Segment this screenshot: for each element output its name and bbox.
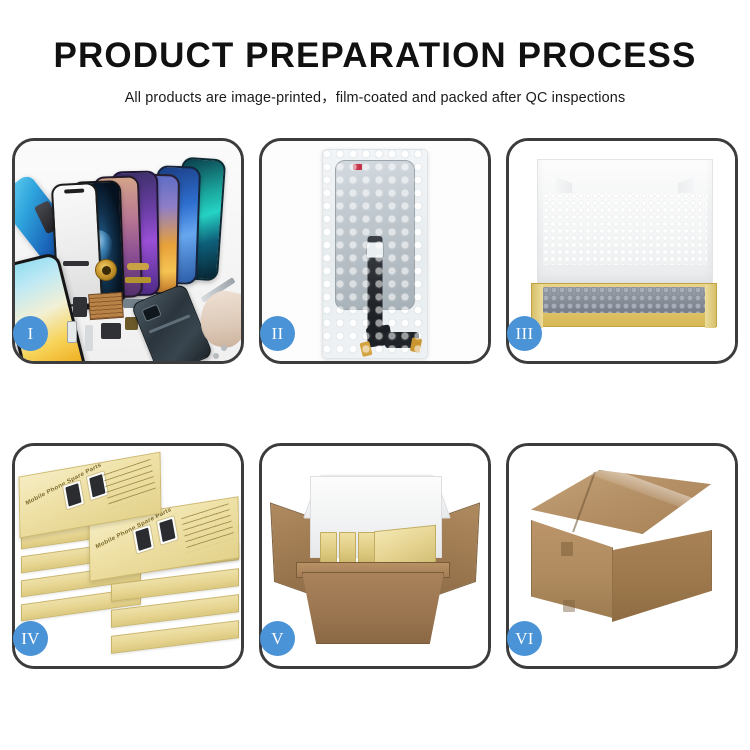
foam-sheet [543,193,707,265]
bubble-wrap-bag [322,149,428,359]
carton-tab-lower [563,600,575,612]
box-screen-print-a [132,524,155,555]
product-preparation-infographic: PRODUCT PREPARATION PROCESS All products… [0,0,750,750]
connector-part-a [101,323,121,339]
step-2-image [262,141,488,361]
driver-ic-chip [366,242,384,258]
step-5-image [262,446,488,666]
step-3-image [509,141,735,361]
carton-body [302,572,444,644]
shipping-carton-right-face [612,530,712,622]
speaker-part [63,261,89,266]
step-badge-4: IV [13,621,48,656]
page-title: PRODUCT PREPARATION PROCESS [0,38,750,75]
header: PRODUCT PREPARATION PROCESS All products… [0,0,750,107]
step-1-image [15,141,241,361]
camera-module-part [95,259,117,281]
process-step-4: Mobile Phone Spare Parts Mobile Phone Sp… [12,443,244,669]
box-screen-print-b [156,515,179,546]
sim-tray-part [67,321,77,343]
gold-contact-b [410,337,422,353]
flex-cable-part-b [125,277,151,283]
red-label-mark [353,164,362,170]
screw-icon [221,345,227,351]
carton-tab-upper [561,542,573,556]
step-6-image [509,446,735,666]
process-step-grid: I II [12,138,738,669]
step-badge-5: V [260,621,295,656]
screw-icon [213,353,219,359]
process-step-5: V [259,443,491,669]
step-badge-1: I [13,316,48,351]
bubble-wrapped-contents [543,287,705,313]
process-step-6: VI [506,443,738,669]
step-4-image: Mobile Phone Spare Parts Mobile Phone Sp… [15,446,241,666]
kraft-gold-tray [531,283,717,327]
box-screen-print-a [62,479,85,510]
box-spec-lines [181,503,235,553]
gold-box-stack: Mobile Phone Spare Parts Mobile Phone Sp… [19,464,239,656]
process-step-1: I [12,138,244,364]
vibrator-part [73,297,87,317]
step-badge-6: VI [507,621,542,656]
page-subtitle: All products are image-printed，film-coat… [0,86,750,107]
box-spec-lines [103,459,157,509]
step-badge-2: II [260,316,295,351]
process-step-2: II [259,138,491,364]
step-badge-3: III [507,316,542,351]
antenna-part [85,325,93,351]
logic-board-part [88,292,124,320]
process-step-3: III [506,138,738,364]
flex-cable-part-a [127,263,149,270]
